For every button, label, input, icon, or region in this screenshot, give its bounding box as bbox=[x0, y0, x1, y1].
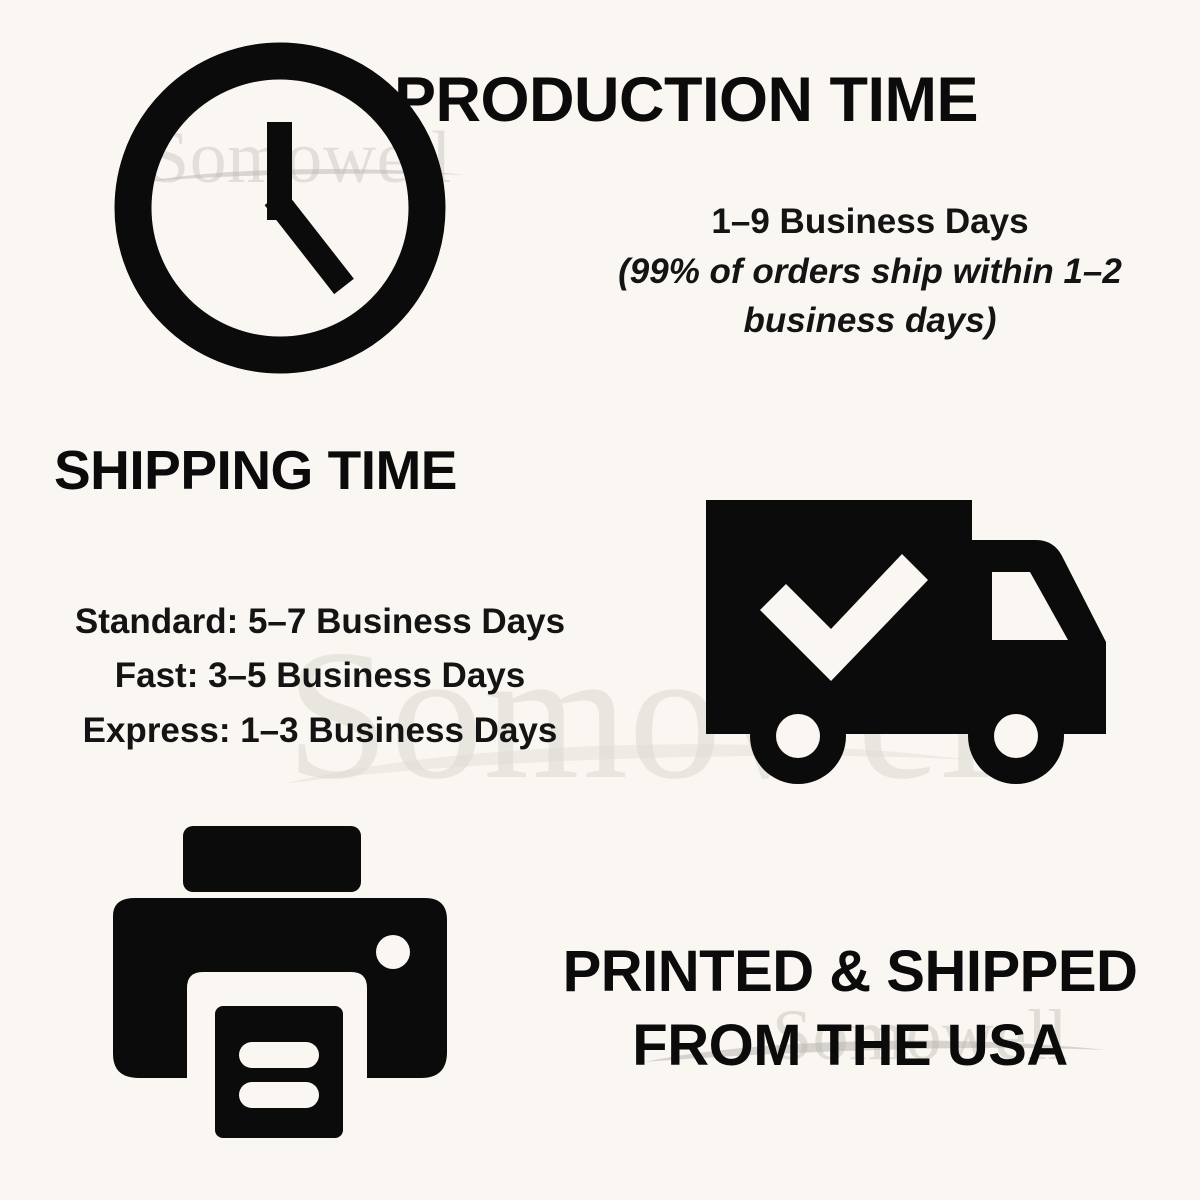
shipping-info-infographic: Somowell Somowell Somowell PRODUCTION TI… bbox=[0, 0, 1200, 1200]
shipping-time-heading: SHIPPING TIME bbox=[54, 441, 457, 500]
printed-shipped-usa-heading: PRINTED & SHIPPED FROM THE USA bbox=[500, 935, 1200, 1083]
production-note: (99% of orders ship within 1–2 business … bbox=[560, 247, 1180, 346]
production-duration: 1–9 Business Days bbox=[560, 197, 1180, 247]
shipping-option-express: Express: 1–3 Business Days bbox=[10, 704, 630, 758]
shipping-options-list: Standard: 5–7 Business Days Fast: 3–5 Bu… bbox=[10, 595, 630, 758]
production-time-detail: 1–9 Business Days (99% of orders ship wi… bbox=[560, 197, 1180, 346]
production-time-heading: PRODUCTION TIME bbox=[0, 66, 1200, 134]
shipping-option-fast: Fast: 3–5 Business Days bbox=[10, 649, 630, 703]
delivery-truck-check-icon bbox=[700, 492, 1120, 788]
printer-icon bbox=[95, 820, 465, 1150]
shipping-option-standard: Standard: 5–7 Business Days bbox=[10, 595, 630, 649]
